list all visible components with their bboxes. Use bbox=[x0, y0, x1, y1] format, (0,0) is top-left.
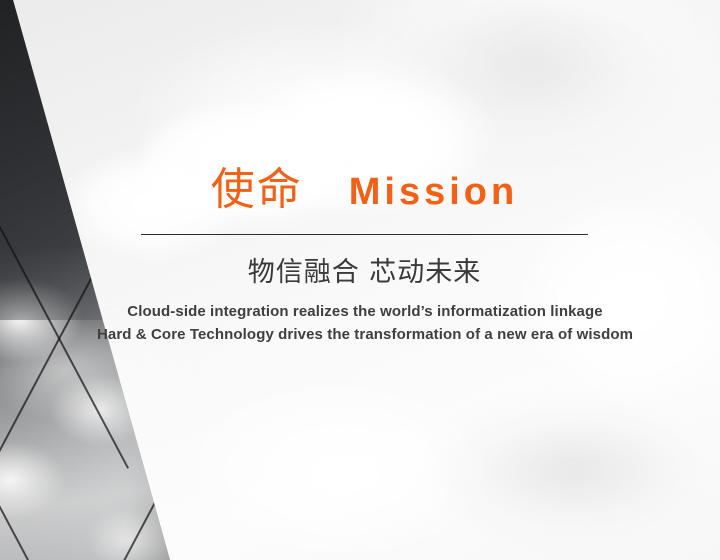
heading-divider bbox=[141, 234, 588, 235]
banner-heading: 使命 Mission bbox=[141, 168, 588, 212]
heading-english: Mission bbox=[349, 173, 518, 211]
tagline-line-1: Cloud-side integration realizes the worl… bbox=[60, 300, 670, 323]
mission-banner: 使命 Mission 物信融合 芯动未来 Cloud-side integrat… bbox=[0, 0, 720, 560]
subtitle-chinese: 物信融合 芯动未来 bbox=[141, 256, 588, 290]
tagline-line-2: Hard & Core Technology drives the transf… bbox=[60, 323, 670, 346]
heading-chinese: 使命 bbox=[211, 168, 303, 212]
tagline-block: Cloud-side integration realizes the worl… bbox=[60, 300, 670, 346]
banner-content: 使命 Mission 物信融合 芯动未来 Cloud-side integrat… bbox=[0, 0, 720, 560]
